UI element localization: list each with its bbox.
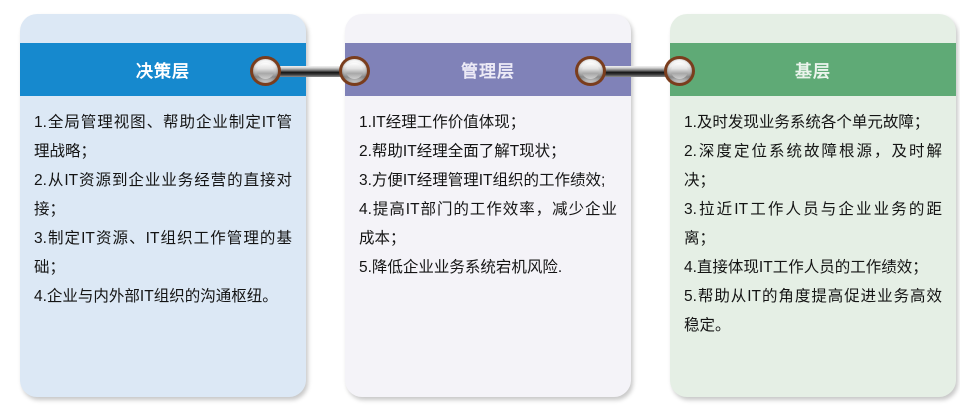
bullet-list-management-layer: 1.IT经理工作价值体现； 2.帮助IT经理全面了解T现状； 3.方便IT经理管…	[359, 108, 617, 282]
list-item: 4.企业与内外部IT组织的沟通枢纽。	[34, 282, 292, 311]
connector-management-to-base	[575, 56, 695, 86]
list-item: 2.深度定位系统故障根源，及时解决；	[684, 137, 942, 195]
card-body-decision-layer: 1.全局管理视图、帮助企业制定IT管理战略； 2.从IT资源到企业业务经营的直接…	[20, 96, 306, 321]
list-item: 1.全局管理视图、帮助企业制定IT管理战略；	[34, 108, 292, 166]
list-item: 4.直接体现IT工作人员的工作绩效；	[684, 253, 942, 282]
list-item: 1.IT经理工作价值体现；	[359, 108, 617, 137]
diagram-canvas: 决策层 1.全局管理视图、帮助企业制定IT管理战略； 2.从IT资源到企业业务经…	[0, 0, 960, 416]
card-base-layer[interactable]: 基层 1.及时发现业务系统各个单元故障； 2.深度定位系统故障根源，及时解决； …	[670, 14, 956, 397]
list-item: 2.从IT资源到企业业务经营的直接对接；	[34, 166, 292, 224]
list-item: 5.降低企业业务系统宕机风险.	[359, 253, 617, 282]
bullet-list-decision-layer: 1.全局管理视图、帮助企业制定IT管理战略； 2.从IT资源到企业业务经营的直接…	[34, 108, 292, 311]
list-item: 3.方便IT经理管理IT组织的工作绩效;	[359, 166, 617, 195]
connector-ring-right-icon	[339, 56, 370, 86]
card-body-management-layer: 1.IT经理工作价值体现； 2.帮助IT经理全面了解T现状； 3.方便IT经理管…	[345, 96, 631, 292]
list-item: 4.提高IT部门的工作效率，减少企业成本；	[359, 195, 617, 253]
connector-ring-inner-icon	[346, 63, 363, 79]
list-item: 5.帮助从IT的角度提高促进业务高效稳定。	[684, 282, 942, 340]
connector-ring-left-icon	[575, 56, 606, 86]
connector-ring-inner-icon	[671, 63, 688, 79]
connector-ring-left-icon	[250, 56, 281, 86]
card-body-base-layer: 1.及时发现业务系统各个单元故障； 2.深度定位系统故障根源，及时解决； 3.拉…	[670, 96, 956, 350]
list-item: 3.拉近IT工作人员与企业业务的距离；	[684, 195, 942, 253]
connector-decision-to-management	[250, 56, 370, 86]
list-item: 3.制定IT资源、IT组织工作管理的基础；	[34, 224, 292, 282]
list-item: 2.帮助IT经理全面了解T现状；	[359, 137, 617, 166]
card-title-management-layer: 管理层	[461, 57, 515, 82]
list-item: 1.及时发现业务系统各个单元故障；	[684, 108, 942, 137]
card-title-decision-layer: 决策层	[136, 57, 190, 82]
card-title-base-layer: 基层	[795, 57, 831, 82]
connector-ring-right-icon	[664, 56, 695, 86]
bullet-list-base-layer: 1.及时发现业务系统各个单元故障； 2.深度定位系统故障根源，及时解决； 3.拉…	[684, 108, 942, 340]
connector-ring-inner-icon	[257, 63, 274, 79]
card-header-base-layer: 基层	[670, 43, 956, 96]
connector-ring-inner-icon	[582, 63, 599, 79]
